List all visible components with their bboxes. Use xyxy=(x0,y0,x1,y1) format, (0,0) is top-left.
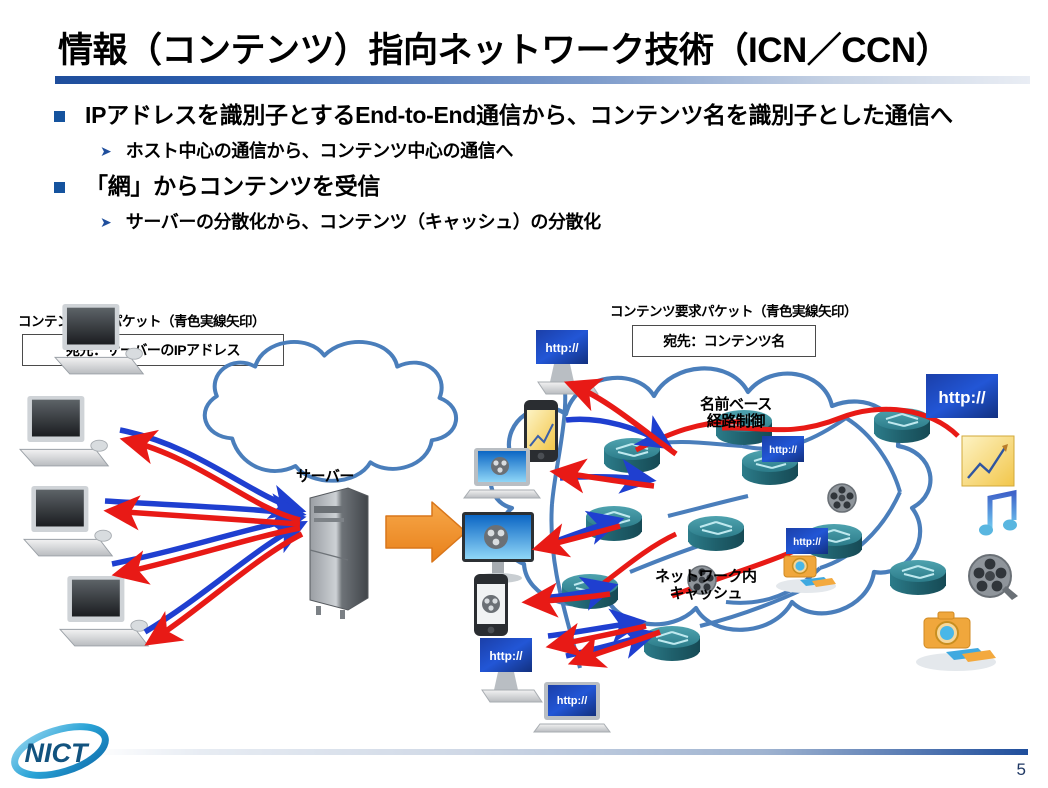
slide-root: 情報（コンテンツ）指向ネットワーク技術（ICN／CCN） IPアドレスを識別子と… xyxy=(0,0,1048,788)
http-screen-icon: http:// xyxy=(480,638,542,702)
svg-text:http://: http:// xyxy=(793,537,821,548)
in-network-cache-line2: キャッシュ xyxy=(655,585,757,602)
laptop-icon: http:// xyxy=(534,682,610,732)
page-number: 5 xyxy=(1017,760,1026,780)
nict-logo: NICT xyxy=(6,722,114,780)
diagram-artwork: http:// xyxy=(0,296,1048,736)
network-diagram: コンテンツ要求パケット（青色実線矢印） 宛先：サーバーのIPアドレス コンテンツ… xyxy=(0,296,1048,736)
svg-text:NICT: NICT xyxy=(25,738,90,768)
footer-rule xyxy=(88,749,1028,755)
film-reel-icon xyxy=(828,484,856,512)
film-reel-icon xyxy=(969,555,1018,600)
bullet-item-3: 「網」からコンテンツを受信 xyxy=(48,171,1028,202)
bullet-text-4: サーバーの分散化から、コンテンツ（キャッシュ）の分散化 xyxy=(126,208,601,234)
bullet-item-1: IPアドレスを識別子とするEnd-to-End通信から、コンテンツ名を識別子とし… xyxy=(48,100,1028,131)
cloud-icon-left xyxy=(205,342,456,481)
http-screen-icon: http:// xyxy=(536,330,598,394)
server-tower-icon xyxy=(310,488,368,619)
svg-text:http://: http:// xyxy=(557,695,588,707)
bullet-text-1: IPアドレスを識別子とするEnd-to-End通信から、コンテンツ名を識別子とし… xyxy=(85,100,990,131)
bullet-text-2: ホスト中心の通信から、コンテンツ中心の通信へ xyxy=(126,137,513,163)
name-based-routing-line2: 経路制御 xyxy=(700,413,772,430)
bullet-item-4: ➤ サーバーの分散化から、コンテンツ（キャッシュ）の分散化 xyxy=(100,208,1028,234)
title-underline-rule xyxy=(55,76,1030,84)
http-screen-icon: http:// xyxy=(786,528,828,554)
svg-text:http://: http:// xyxy=(545,341,579,355)
http-screen-icon: http:// xyxy=(762,436,804,462)
chevron-right-icon: ➤ xyxy=(100,143,112,160)
orange-right-arrow-icon xyxy=(386,502,466,562)
svg-text:http://: http:// xyxy=(489,649,523,663)
square-bullet-icon xyxy=(54,182,65,193)
chart-content-icon xyxy=(962,436,1014,486)
svg-text:http://: http:// xyxy=(769,445,797,456)
in-network-cache-label: ネットワーク内 キャッシュ xyxy=(655,568,757,603)
camera-photos-icon xyxy=(776,556,836,593)
server-label: サーバー xyxy=(296,468,354,485)
svg-text:http://: http:// xyxy=(938,388,985,407)
smartphone-icon xyxy=(474,574,508,636)
http-screen-icon: http:// xyxy=(926,374,998,418)
chevron-right-icon: ➤ xyxy=(100,214,112,231)
desktop-pc-icon xyxy=(20,304,148,646)
name-based-routing-label: 名前ベース 経路制御 xyxy=(700,396,772,431)
bullet-list: IPアドレスを識別子とするEnd-to-End通信から、コンテンツ名を識別子とし… xyxy=(48,100,1028,242)
music-note-icon xyxy=(979,493,1017,536)
laptop-icon xyxy=(464,448,540,498)
monitor-icon xyxy=(462,512,534,583)
camera-photos-icon xyxy=(916,612,996,671)
bullet-item-2: ➤ ホスト中心の通信から、コンテンツ中心の通信へ xyxy=(100,137,1028,163)
square-bullet-icon xyxy=(54,111,65,122)
name-based-routing-line1: 名前ベース xyxy=(700,396,772,413)
page-title: 情報（コンテンツ）指向ネットワーク技術（ICN／CCN） xyxy=(58,22,1018,73)
in-network-cache-line1: ネットワーク内 xyxy=(655,568,757,585)
bullet-text-3: 「網」からコンテンツを受信 xyxy=(85,171,380,202)
